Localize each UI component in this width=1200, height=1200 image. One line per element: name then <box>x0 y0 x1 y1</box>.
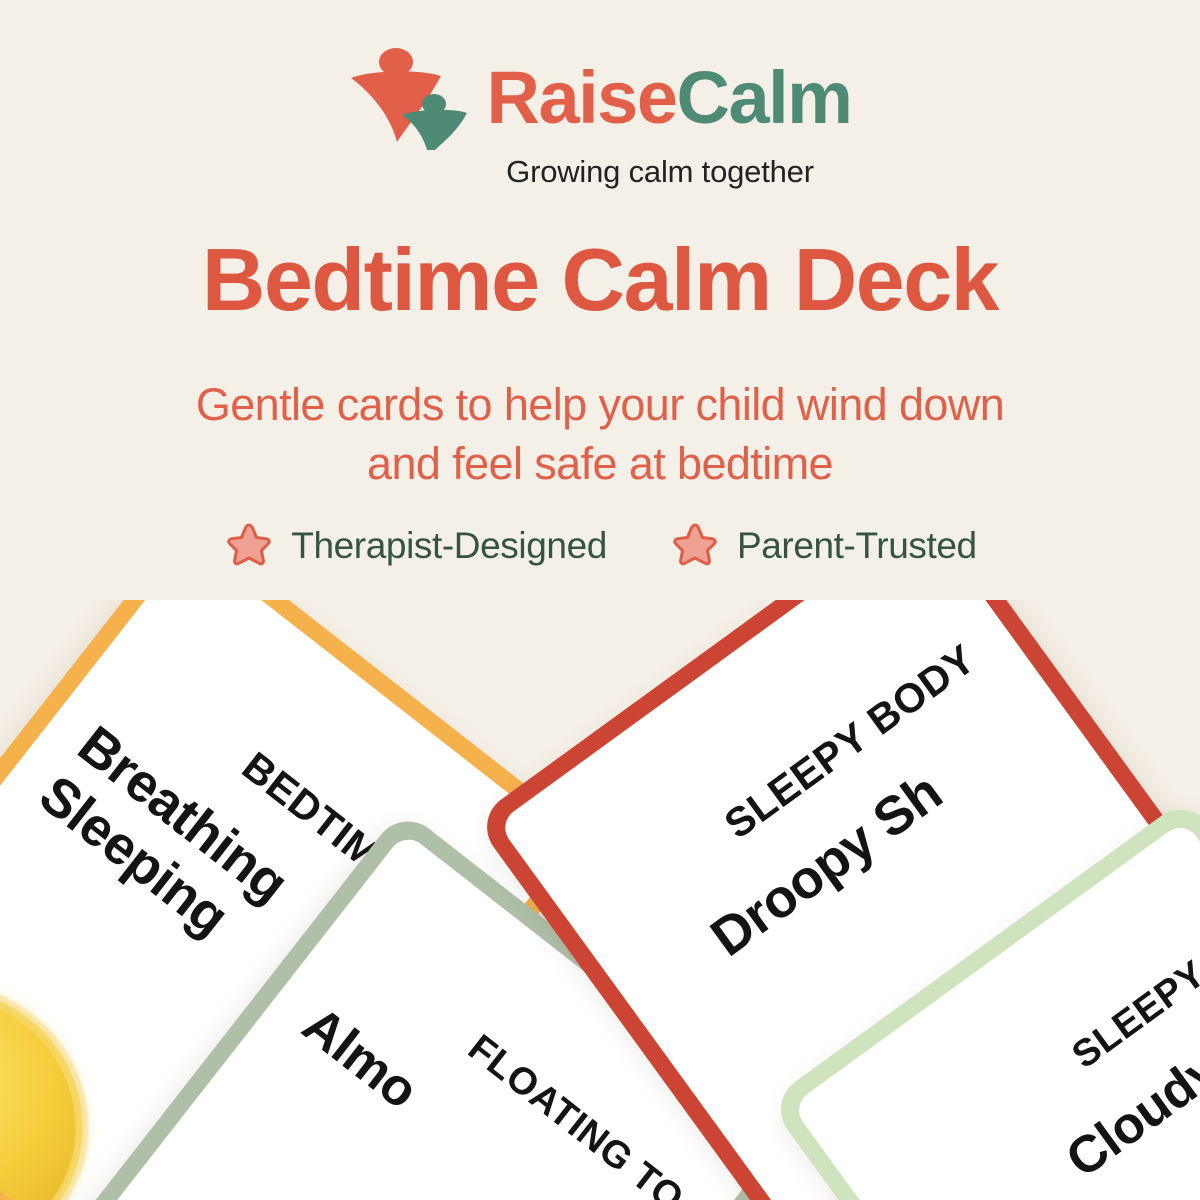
subtitle-line-1: Gentle cards to help your child wind dow… <box>0 375 1200 434</box>
brand-tagline: Growing calm together <box>506 154 814 190</box>
brand-header: RaiseCalm Growing calm together <box>0 46 1200 190</box>
badge-label: Therapist-Designed <box>291 525 607 567</box>
badge-parent-trusted: Parent-Trusted <box>669 520 977 572</box>
trust-badges: Therapist-Designed Parent-Trusted <box>0 520 1200 572</box>
brand-wordmark: RaiseCalm <box>487 61 852 135</box>
badge-therapist-designed: Therapist-Designed <box>223 520 607 572</box>
card-title: Cloudy <box>1055 1040 1200 1191</box>
badge-label: Parent-Trusted <box>737 525 977 567</box>
yellow-fuzzy-creature-image <box>0 944 127 1200</box>
brand-name-part1: Raise <box>487 56 677 139</box>
two-figures-icon <box>349 46 471 150</box>
page-subtitle: Gentle cards to help your child wind dow… <box>0 375 1200 494</box>
card-title: Almo <box>291 995 429 1121</box>
star-icon <box>669 520 721 572</box>
page-title: Bedtime Calm Deck <box>0 234 1200 326</box>
card-fan: BEDTIME BREATHS Breathing Sleeping FLOAT… <box>0 600 1200 1200</box>
subtitle-line-2: and feel safe at bedtime <box>0 434 1200 493</box>
brand-name-part2: Calm <box>677 56 852 139</box>
logo-lockup: RaiseCalm <box>349 46 852 150</box>
card-title: Droopy Sh <box>700 761 954 969</box>
star-icon <box>223 520 275 572</box>
